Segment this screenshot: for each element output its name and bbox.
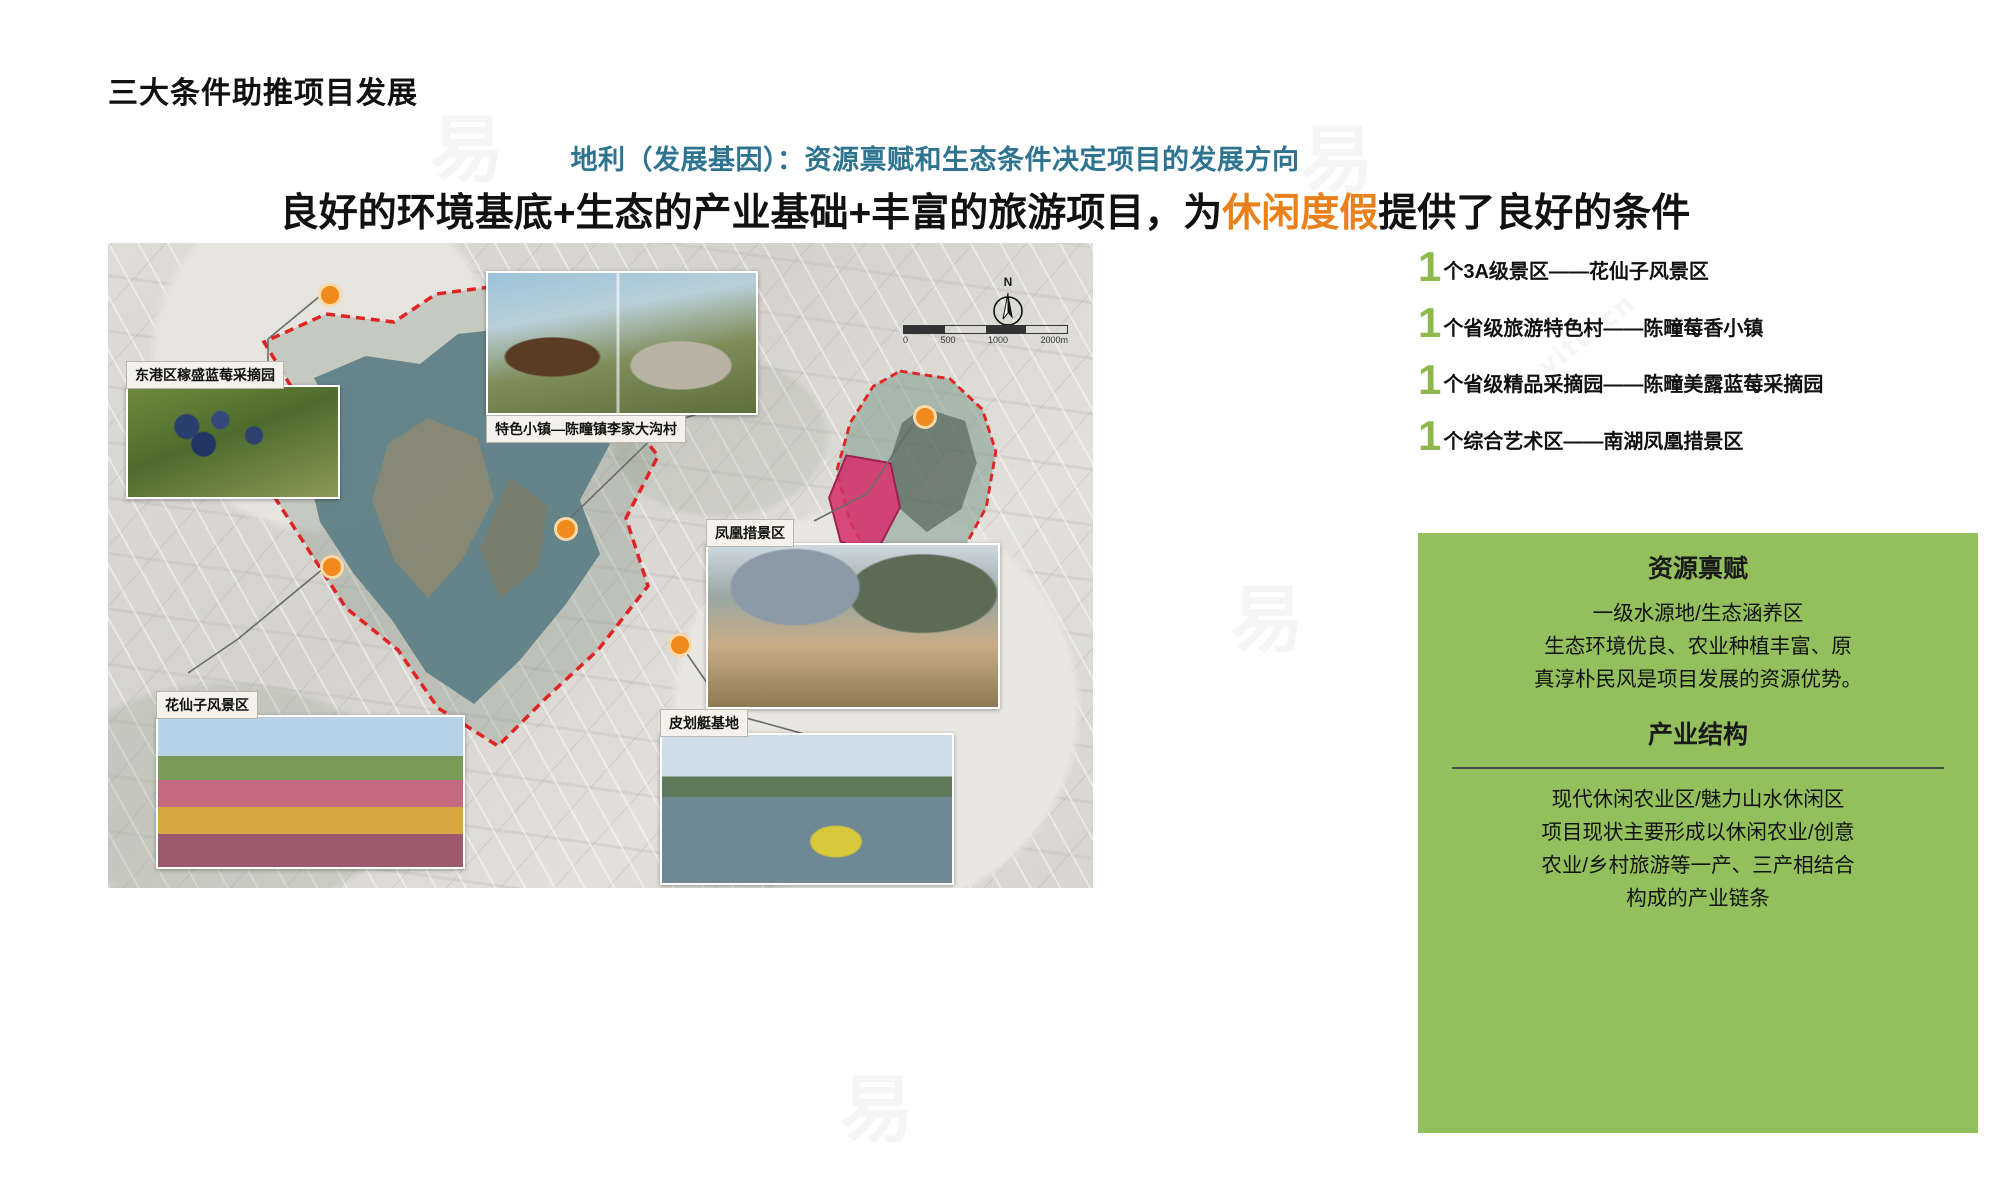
photo-blueberry-orchard[interactable] bbox=[126, 385, 340, 499]
fact-text: 个3A级景区——花仙子风景区 bbox=[1443, 262, 1709, 284]
headline-part-1: 良好的环境基底+生态的产业基础+丰富的旅游项目，为 bbox=[280, 192, 1223, 235]
satellite-map[interactable]: N 0 500 1000 2000m bbox=[108, 243, 1093, 888]
resource-line: 真淳朴民风是项目发展的资源优势。 bbox=[1444, 663, 1952, 696]
fact-text: 个省级旅游特色村——陈疃莓香小镇 bbox=[1443, 319, 1763, 341]
fact-number: 1 bbox=[1418, 419, 1441, 453]
headline: 良好的环境基底+生态的产业基础+丰富的旅游项目，为休闲度假提供了良好的条件 bbox=[0, 182, 2000, 238]
photo-label-kayak-base: 皮划艇基地 bbox=[660, 709, 748, 737]
photo-kayak-base[interactable] bbox=[660, 733, 954, 885]
photo-image bbox=[128, 387, 338, 497]
map-marker-dot[interactable] bbox=[913, 405, 937, 429]
watermark: 易 bbox=[840, 1050, 914, 1157]
resource-endowment-title: 资源禀赋 bbox=[1418, 533, 1978, 597]
industry-structure-title: 产业结构 bbox=[1418, 711, 1978, 763]
panel-divider bbox=[1452, 767, 1944, 769]
fact-item: 1 个省级旅游特色村——陈疃莓香小镇 bbox=[1418, 306, 1978, 340]
fact-number: 1 bbox=[1418, 306, 1441, 340]
map-marker-dot[interactable] bbox=[320, 555, 344, 579]
photo-image bbox=[708, 545, 998, 707]
fact-number: 1 bbox=[1418, 250, 1441, 284]
section-subtitle: 地利（发展基因）：资源禀赋和生态条件决定项目的发展方向 bbox=[0, 138, 2000, 177]
photo-image bbox=[158, 717, 463, 867]
resource-line: 生态环境优良、农业种植丰富、原 bbox=[1444, 630, 1952, 663]
fact-number: 1 bbox=[1418, 363, 1441, 397]
fact-text: 个省级精品采摘园——陈疃美露蓝莓采摘园 bbox=[1443, 375, 1823, 397]
photo-label-fenghuangcuo: 凤凰措景区 bbox=[706, 519, 794, 547]
photo-label-blueberry-orchard: 东港区稼盛蓝莓采摘园 bbox=[126, 361, 284, 389]
photo-image bbox=[488, 273, 756, 413]
photo-label-characteristic-town: 特色小镇—陈疃镇李家大沟村 bbox=[486, 415, 686, 443]
resource-industry-panel: 资源禀赋 一级水源地/生态涵养区 生态环境优良、农业种植丰富、原 真淳朴民风是项… bbox=[1418, 533, 1978, 1133]
page-title: 三大条件助推项目发展 bbox=[108, 68, 418, 112]
resource-line: 一级水源地/生态涵养区 bbox=[1444, 597, 1952, 630]
photo-label-huaxianzi: 花仙子风景区 bbox=[156, 691, 258, 719]
industry-line: 农业/乡村旅游等一产、三产相结合 bbox=[1444, 849, 1952, 882]
photo-huaxianzi[interactable] bbox=[156, 715, 465, 869]
photo-image bbox=[662, 735, 952, 883]
photo-characteristic-town[interactable] bbox=[486, 271, 758, 415]
industry-line: 构成的产业链条 bbox=[1444, 882, 1952, 915]
facts-list: 1 个3A级景区——花仙子风景区 1 个省级旅游特色村——陈疃莓香小镇 1 个省… bbox=[1418, 250, 1978, 476]
fact-item: 1 个综合艺术区——南湖凤凰措景区 bbox=[1418, 419, 1978, 453]
photo-fenghuangcuo[interactable] bbox=[706, 543, 1000, 709]
headline-highlight: 休闲度假 bbox=[1222, 192, 1378, 235]
fact-item: 1 个省级精品采摘园——陈疃美露蓝莓采摘园 bbox=[1418, 363, 1978, 397]
industry-line: 现代休闲农业区/魅力山水休闲区 bbox=[1444, 783, 1952, 816]
map-marker-dot[interactable] bbox=[554, 517, 578, 541]
industry-line: 项目现状主要形成以休闲农业/创意 bbox=[1444, 816, 1952, 849]
industry-structure-body: 现代休闲农业区/魅力山水休闲区 项目现状主要形成以休闲农业/创意 农业/乡村旅游… bbox=[1418, 783, 1978, 930]
fact-item: 1 个3A级景区——花仙子风景区 bbox=[1418, 250, 1978, 284]
headline-part-2: 提供了良好的条件 bbox=[1378, 192, 1690, 235]
slide-root: 易 易 易 易 易 yitu.cn yitu.cn yitu.cn 易图网 三大… bbox=[0, 0, 2000, 1190]
resource-endowment-body: 一级水源地/生态涵养区 生态环境优良、农业种植丰富、原 真淳朴民风是项目发展的资… bbox=[1418, 597, 1978, 711]
map-marker-dot[interactable] bbox=[668, 633, 692, 657]
fact-text: 个综合艺术区——南湖凤凰措景区 bbox=[1443, 432, 1743, 454]
map-marker-dot[interactable] bbox=[318, 283, 342, 307]
watermark: 易 bbox=[1230, 560, 1304, 667]
